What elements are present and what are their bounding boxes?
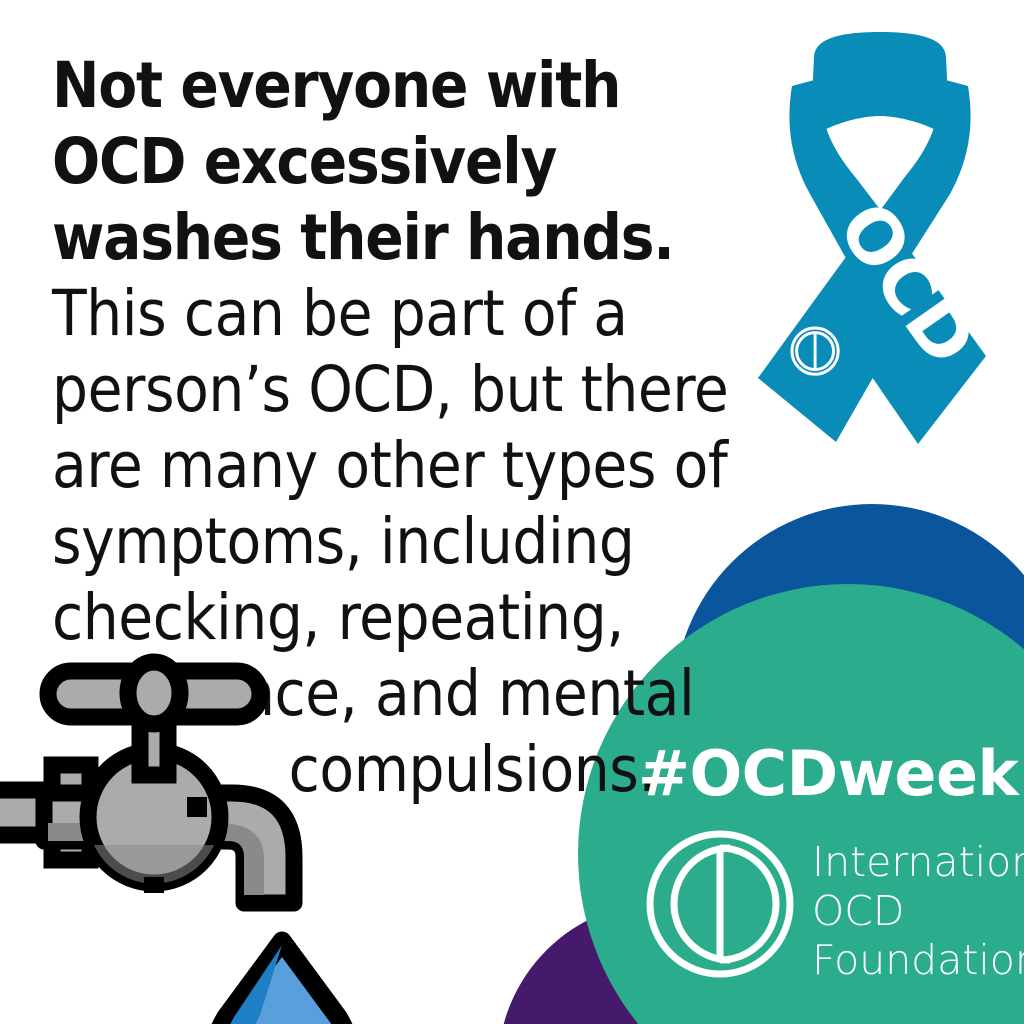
iocdf-wordmark: International OCD Foundation — [812, 838, 1024, 985]
iocdf-circle-logo-icon — [644, 828, 796, 980]
poster-canvas: Not everyone with OCD excessively washes… — [0, 0, 1024, 1024]
awareness-ribbon-icon: OCD — [736, 26, 1024, 456]
wordmark-line-ocd: OCD — [812, 887, 1024, 936]
ocdweek-hashtag: #OCDweek — [638, 737, 1018, 810]
wordmark-line-foundation: Foundation — [812, 936, 1024, 985]
wordmark-line-international: International — [812, 838, 1024, 887]
faucet-illustration — [0, 645, 362, 1024]
message-bold-lead: Not everyone with OCD excessively washes… — [52, 49, 674, 274]
faucet-tap-icon — [0, 662, 294, 903]
water-droplet-icon — [214, 941, 350, 1024]
